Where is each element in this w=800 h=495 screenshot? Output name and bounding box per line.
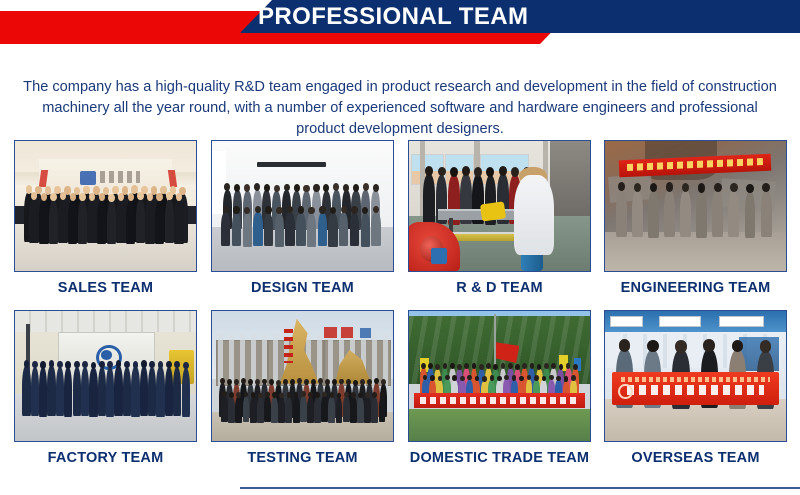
footer-divider bbox=[240, 487, 800, 489]
gallery-cell-domestic-trade-team[interactable]: DOMESTIC TRADE TEAM bbox=[408, 310, 591, 466]
overseas-team-photo bbox=[604, 310, 787, 442]
gallery-caption: FACTORY TEAM bbox=[14, 450, 197, 466]
gallery-cell-sales-team[interactable]: SALES TEAM bbox=[14, 140, 197, 296]
gallery-cell-factory-team[interactable]: FACTORY TEAM bbox=[14, 310, 197, 466]
gallery-row: FACTORY TEAM bbox=[0, 310, 800, 480]
gallery-caption: ENGINEERING TEAM bbox=[604, 280, 787, 296]
sales-team-photo bbox=[14, 140, 197, 272]
gallery-caption: SALES TEAM bbox=[14, 280, 197, 296]
gallery-caption: R & D TEAM bbox=[408, 280, 591, 296]
team-photo-gallery: SALES TEAM DESIGN TEAM bbox=[0, 140, 800, 480]
rd-team-photo bbox=[408, 140, 591, 272]
intro-paragraph: The company has a high-quality R&D team … bbox=[20, 77, 780, 140]
gallery-cell-engineering-team[interactable]: ENGINEERING TEAM bbox=[604, 140, 787, 296]
gallery-cell-design-team[interactable]: DESIGN TEAM bbox=[211, 140, 394, 296]
gallery-row: SALES TEAM DESIGN TEAM bbox=[0, 140, 800, 310]
gallery-caption: DOMESTIC TRADE TEAM bbox=[408, 450, 591, 466]
gallery-cell-overseas-team[interactable]: OVERSEAS TEAM bbox=[604, 310, 787, 466]
domestic-trade-team-photo bbox=[408, 310, 591, 442]
testing-team-photo bbox=[211, 310, 394, 442]
gallery-caption: DESIGN TEAM bbox=[211, 280, 394, 296]
gallery-cell-rd-team[interactable]: R & D TEAM bbox=[408, 140, 591, 296]
engineering-team-photo bbox=[604, 140, 787, 272]
gallery-caption: TESTING TEAM bbox=[211, 450, 394, 466]
page-title: PROFESSIONAL TEAM bbox=[0, 0, 800, 33]
gallery-caption: OVERSEAS TEAM bbox=[604, 450, 787, 466]
page-header-banner: PROFESSIONAL TEAM bbox=[0, 0, 800, 48]
design-team-photo bbox=[211, 140, 394, 272]
gallery-cell-testing-team[interactable]: TESTING TEAM bbox=[211, 310, 394, 466]
factory-team-photo bbox=[14, 310, 197, 442]
